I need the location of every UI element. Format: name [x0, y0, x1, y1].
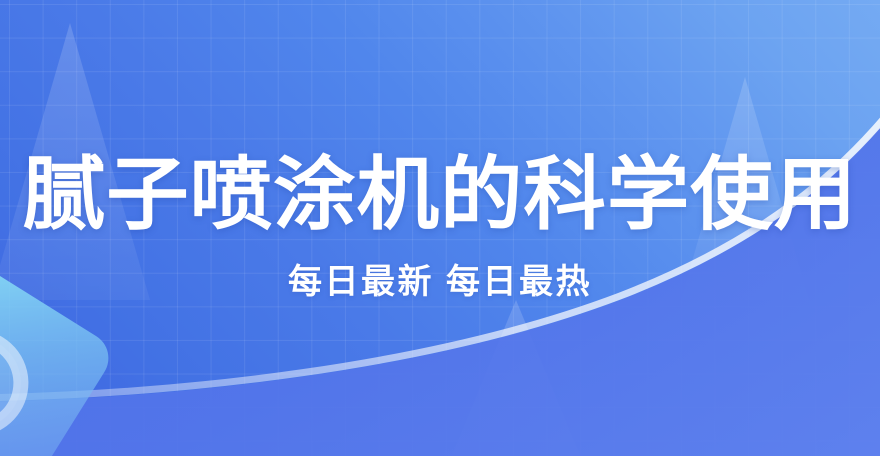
banner-text-block: 腻子喷涂机的科学使用 每日最新 每日最热	[0, 0, 880, 456]
banner-subtitle: 每日最新 每日最热	[288, 262, 592, 303]
banner-title: 腻子喷涂机的科学使用	[23, 153, 857, 236]
promo-banner: 腻子喷涂机的科学使用 每日最新 每日最热	[0, 0, 880, 456]
